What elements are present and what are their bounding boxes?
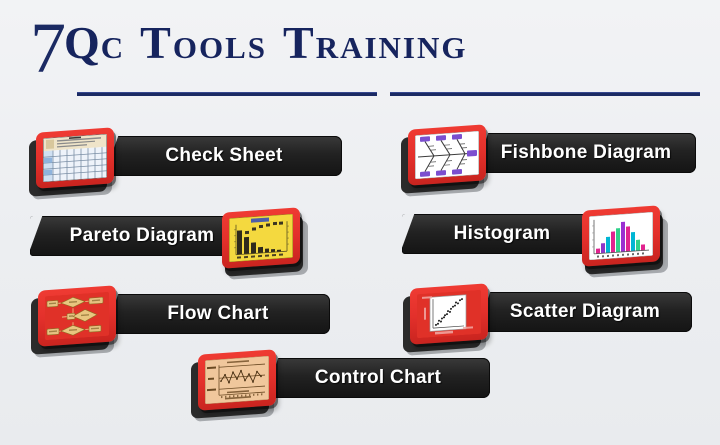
banner-pareto-diagram[interactable]: Pareto Diagram xyxy=(30,216,254,256)
check-sheet-card[interactable] xyxy=(36,127,114,188)
title-word-qc: QC xyxy=(64,20,124,71)
tool-item-check-sheet[interactable]: Check Sheet xyxy=(24,130,344,192)
check-sheet-thumbnail xyxy=(43,134,107,182)
banner-check-sheet[interactable]: Check Sheet xyxy=(106,136,342,176)
page-title: 7QCTOOLSTRAINING xyxy=(0,8,720,103)
tool-label: Scatter Diagram xyxy=(478,301,692,323)
pareto-diagram-thumbnail xyxy=(229,214,293,262)
tool-label: Pareto Diagram xyxy=(30,225,254,247)
tool-item-pareto-diagram[interactable]: Pareto Diagram xyxy=(26,210,326,272)
title-underline-right xyxy=(390,92,700,96)
tool-item-histogram[interactable]: Histogram xyxy=(398,208,688,270)
control-chart-card[interactable] xyxy=(198,349,276,410)
histogram-card[interactable] xyxy=(582,205,660,266)
title-text: 7QCTOOLSTRAINING xyxy=(30,12,468,84)
title-numeral: 7 xyxy=(30,12,64,84)
banner-control-chart[interactable]: Control Chart xyxy=(266,358,490,398)
fishbone-diagram-card[interactable] xyxy=(408,124,486,185)
banner-scatter-diagram[interactable]: Scatter Diagram xyxy=(478,292,692,332)
tool-item-flow-chart[interactable]: Flow Chart xyxy=(26,288,326,350)
title-word-tools: TOOLS xyxy=(140,16,267,69)
tool-label: Control Chart xyxy=(266,367,490,389)
scatter-diagram-card[interactable] xyxy=(410,283,488,344)
tool-item-scatter-diagram[interactable]: Scatter Diagram xyxy=(398,286,688,348)
poster-canvas: 7QCTOOLSTRAINING Check Sheet xyxy=(0,0,720,445)
tool-label: Fishbone Diagram xyxy=(476,142,696,164)
fishbone-diagram-thumbnail xyxy=(415,131,479,179)
flow-chart-card[interactable] xyxy=(38,285,116,346)
tool-label: Histogram xyxy=(402,223,602,245)
tool-item-control-chart[interactable]: Control Chart xyxy=(186,352,486,414)
flow-chart-thumbnail xyxy=(45,292,109,340)
title-underline-left xyxy=(77,92,377,96)
title-word-training: TRAINING xyxy=(283,16,467,69)
banner-histogram[interactable]: Histogram xyxy=(402,214,602,254)
banner-flow-chart[interactable]: Flow Chart xyxy=(106,294,330,334)
histogram-thumbnail xyxy=(589,212,653,260)
banner-fishbone-diagram[interactable]: Fishbone Diagram xyxy=(476,133,696,173)
scatter-diagram-thumbnail xyxy=(417,290,481,338)
tool-label: Flow Chart xyxy=(106,303,330,325)
tool-item-fishbone-diagram[interactable]: Fishbone Diagram xyxy=(396,127,696,189)
pareto-diagram-card[interactable] xyxy=(222,207,300,268)
control-chart-thumbnail xyxy=(205,356,269,404)
tool-label: Check Sheet xyxy=(106,145,342,167)
